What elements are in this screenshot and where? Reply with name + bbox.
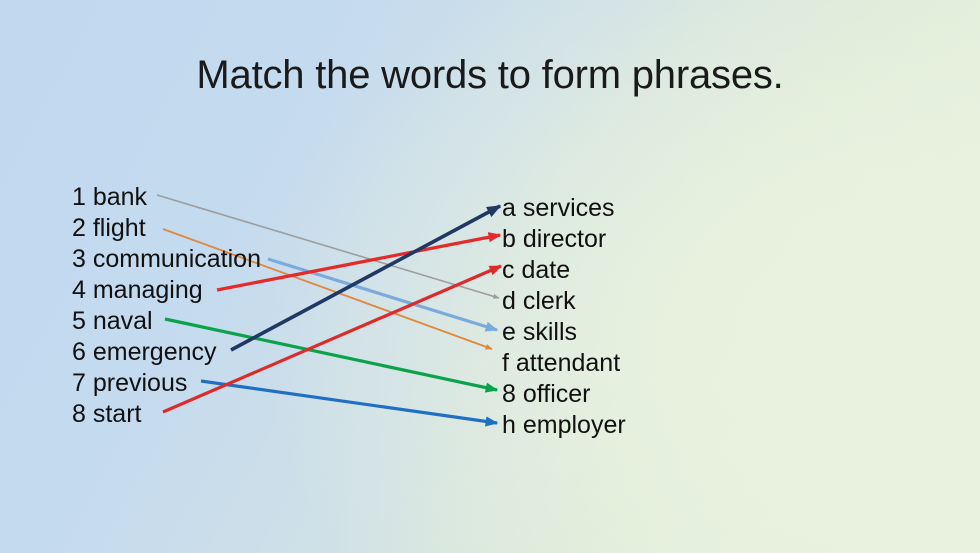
list-item-right-h[interactable]: h employer [502,410,626,441]
list-item-left-2[interactable]: 2 flight [72,213,261,244]
connector-emergency-to-services [231,206,500,350]
left-column: 1 bank 2 flight 3 communication 4 managi… [72,182,261,430]
list-item-right-e[interactable]: e skills [502,317,626,348]
list-item-right-b[interactable]: b director [502,224,626,255]
connector-communication-to-skills [268,259,497,330]
list-item-right-g[interactable]: 8 officer [502,379,626,410]
page-title: Match the words to form phrases. [0,52,980,98]
list-item-left-3[interactable]: 3 communication [72,244,261,275]
list-item-left-6[interactable]: 6 emergency [72,337,261,368]
list-item-left-8[interactable]: 8 start [72,399,261,430]
list-item-left-1[interactable]: 1 bank [72,182,261,213]
slide-canvas: Match the words to form phrases. 1 bank … [0,0,980,553]
list-item-left-4[interactable]: 4 managing [72,275,261,306]
list-item-right-a[interactable]: a services [502,193,626,224]
list-item-left-7[interactable]: 7 previous [72,368,261,399]
list-item-right-d[interactable]: d clerk [502,286,626,317]
list-item-right-c[interactable]: c date [502,255,626,286]
right-column: a services b director c date d clerk e s… [502,193,626,441]
list-item-left-5[interactable]: 5 naval [72,306,261,337]
list-item-right-f[interactable]: f attendant [502,348,626,379]
